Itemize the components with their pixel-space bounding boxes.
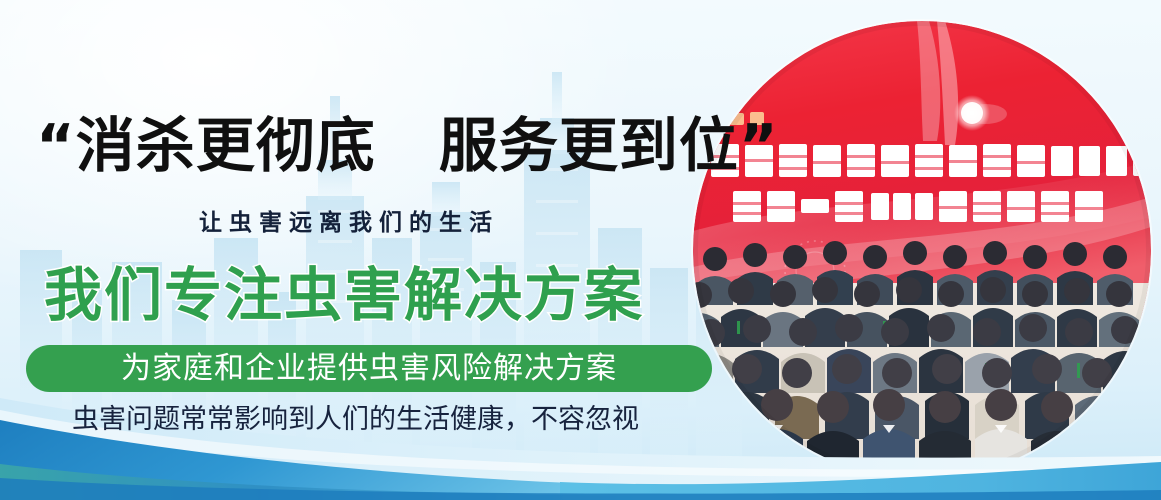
- sub-headline: 让虫害远离我们的生活: [199, 211, 499, 234]
- main-headline: “消杀更彻底 服务更到位”: [36, 116, 779, 175]
- main-headline-part2: 服务更到位”: [439, 111, 779, 180]
- copy-block: “消杀更彻底 服务更到位” 让虫害远离我们的生活 我们专注虫害解决方案 为家庭和…: [0, 0, 720, 500]
- promo-banner: “消杀更彻底 服务更到位” 让虫害远离我们的生活 我们专注虫害解决方案 为家庭和…: [0, 0, 1161, 500]
- green-headline: 我们专注虫害解决方案: [44, 266, 644, 324]
- service-pill-text: 为家庭和企业提供虫害风险解决方案: [121, 354, 617, 384]
- tagline-text: 虫害问题常常影响到人们的生活健康，不容忽视: [72, 406, 639, 433]
- main-headline-part1: “消杀更彻底: [36, 111, 376, 180]
- service-pill-banner: 为家庭和企业提供虫害风险解决方案: [26, 345, 712, 392]
